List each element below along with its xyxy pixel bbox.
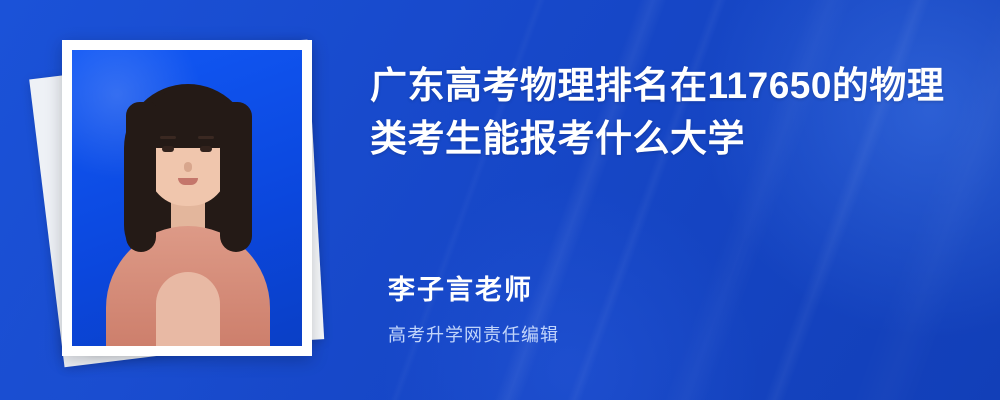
- headline-block: 广东高考物理排名在117650的物理类考生能报考什么大学: [370, 60, 970, 165]
- photo-card-front: [62, 40, 312, 356]
- background-glow-top-right: [700, 0, 1000, 340]
- banner-headline: 广东高考物理排名在117650的物理类考生能报考什么大学: [370, 60, 970, 165]
- portrait-nose: [184, 162, 192, 172]
- portrait-eye-left: [162, 146, 174, 152]
- portrait-eyebrow-right: [198, 136, 214, 139]
- portrait-eye-right: [200, 146, 212, 152]
- portrait-photo: [72, 50, 302, 346]
- promo-banner: 广东高考物理排名在117650的物理类考生能报考什么大学 李子言老师 高考升学网…: [0, 0, 1000, 400]
- portrait-chest: [156, 272, 220, 346]
- portrait-hair-right: [220, 102, 252, 252]
- author-name: 李子言老师: [388, 268, 559, 307]
- portrait-eyebrow-left: [160, 136, 176, 139]
- author-block: 李子言老师 高考升学网责任编辑: [388, 268, 559, 347]
- author-role: 高考升学网责任编辑: [388, 321, 559, 347]
- photo-card-stack: [40, 28, 340, 378]
- portrait-hair-left: [126, 102, 156, 252]
